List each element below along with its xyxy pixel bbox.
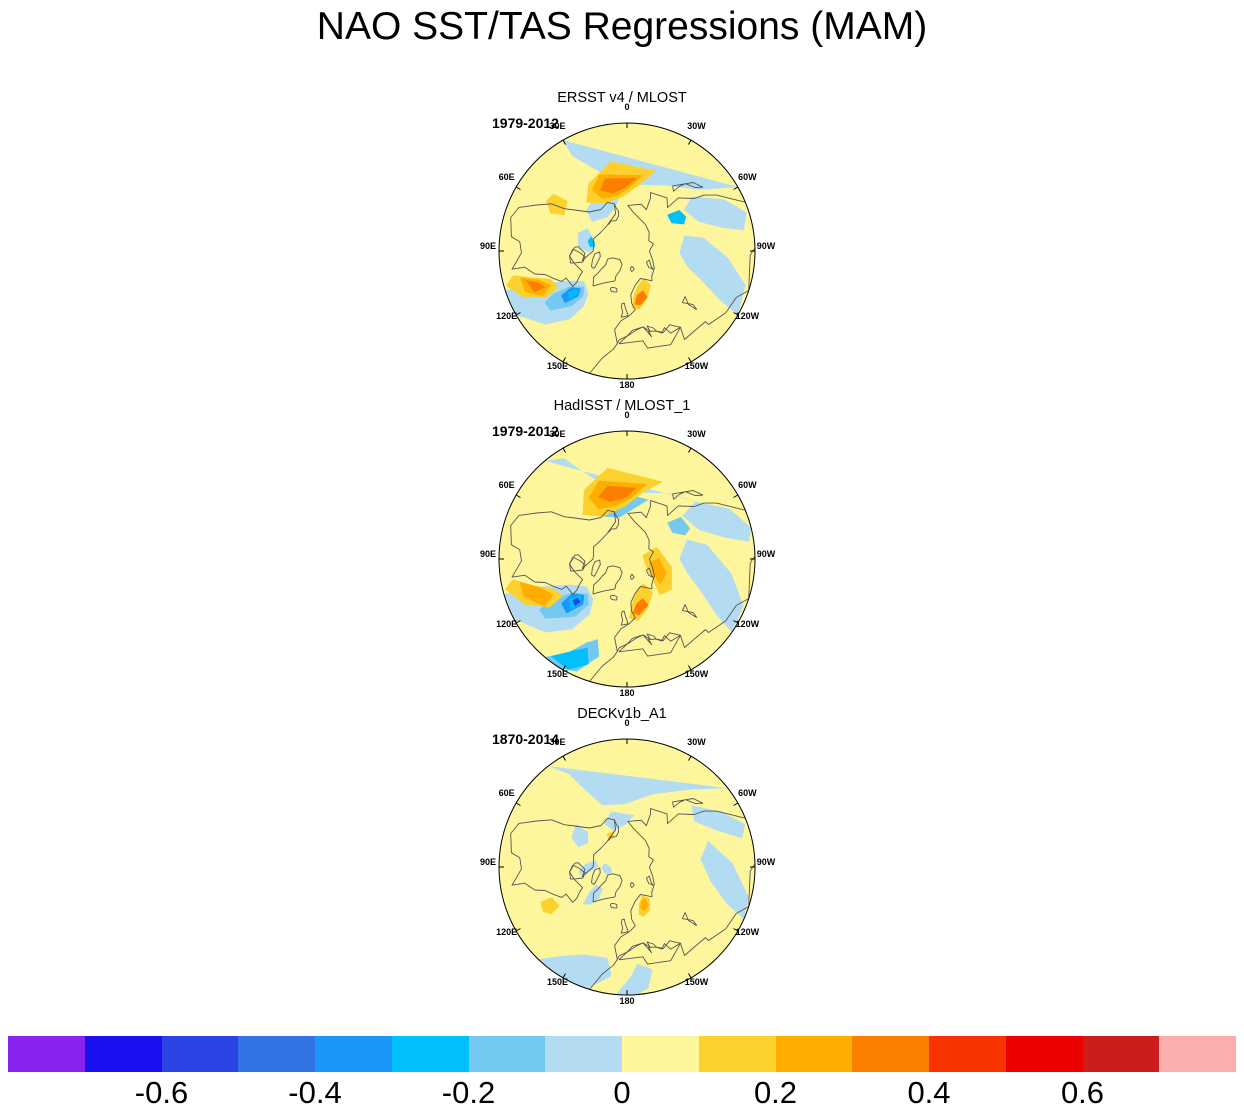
colorbar-segment-2 [162, 1036, 239, 1072]
lon-label-60W-panel-2: 60W [738, 788, 757, 798]
polar-map-1 [486, 418, 768, 700]
lon-label-150E-panel-0: 150E [547, 361, 568, 371]
lon-label-150W-panel-2: 150W [685, 977, 709, 987]
colorbar [8, 1036, 1236, 1072]
colorbar-segment-0 [8, 1036, 85, 1072]
figure-title: NAO SST/TAS Regressions (MAM) [0, 4, 1244, 50]
colorbar-tick-0.4: 0.4 [907, 1074, 950, 1112]
lon-label-60E-panel-2: 60E [499, 788, 515, 798]
lon-label-120W-panel-0: 120W [736, 311, 760, 321]
polar-map-0 [486, 110, 768, 392]
lon-label-90E-panel-2: 90E [480, 857, 496, 867]
lon-label-0-panel-2: 0 [624, 718, 629, 728]
lon-label-150W-panel-0: 150W [685, 361, 709, 371]
colorbar-segment-1 [85, 1036, 162, 1072]
lon-label-60E-panel-1: 60E [499, 480, 515, 490]
colorbar-segment-11 [852, 1036, 929, 1072]
lon-label-30W-panel-0: 30W [687, 121, 706, 131]
colorbar-segment-15 [1159, 1036, 1236, 1072]
lon-label-60W-panel-1: 60W [738, 480, 757, 490]
panel-title-2: DECKv1b_A1 [0, 706, 1244, 722]
lon-label-180-panel-1: 180 [619, 688, 634, 698]
colorbar-segment-7 [545, 1036, 622, 1072]
lon-label-30W-panel-2: 30W [687, 737, 706, 747]
colorbar-segment-14 [1083, 1036, 1160, 1072]
lon-label-90W-panel-1: 90W [757, 549, 776, 559]
colorbar-segment-3 [238, 1036, 315, 1072]
lon-label-120E-panel-2: 120E [496, 927, 517, 937]
colorbar-segment-5 [392, 1036, 469, 1072]
lon-label-0-panel-1: 0 [624, 410, 629, 420]
lon-label-90W-panel-2: 90W [757, 857, 776, 867]
lon-label-120W-panel-2: 120W [736, 927, 760, 937]
lon-label-150W-panel-1: 150W [685, 669, 709, 679]
lon-label-120E-panel-0: 120E [496, 311, 517, 321]
colorbar-segment-10 [776, 1036, 853, 1072]
colorbar-segment-6 [469, 1036, 546, 1072]
panel-title-1: HadISST / MLOST_1 [0, 398, 1244, 414]
colorbar-tick--0.2: -0.2 [442, 1074, 495, 1112]
lon-label-90W-panel-0: 90W [757, 241, 776, 251]
lon-label-150E-panel-2: 150E [547, 977, 568, 987]
lon-label-60W-panel-0: 60W [738, 172, 757, 182]
colorbar-segment-12 [929, 1036, 1006, 1072]
colorbar-tick--0.6: -0.6 [135, 1074, 188, 1112]
colorbar-segment-8 [622, 1036, 699, 1072]
lon-label-180-panel-2: 180 [619, 996, 634, 1006]
lon-label-0-panel-0: 0 [624, 102, 629, 112]
colorbar-tick-0.6: 0.6 [1061, 1074, 1104, 1112]
colorbar-tick-labels: -0.6-0.4-0.200.20.40.6 [8, 1074, 1236, 1114]
polar-map-2 [486, 726, 768, 1008]
lon-label-60E-panel-0: 60E [499, 172, 515, 182]
colorbar-segment-4 [315, 1036, 392, 1072]
lon-label-120W-panel-1: 120W [736, 619, 760, 629]
lon-label-30E-panel-2: 30E [549, 737, 565, 747]
lon-label-90E-panel-0: 90E [480, 241, 496, 251]
lon-label-150E-panel-1: 150E [547, 669, 568, 679]
colorbar-tick--0.4: -0.4 [288, 1074, 341, 1112]
lon-label-30E-panel-0: 30E [549, 121, 565, 131]
lon-label-30E-panel-1: 30E [549, 429, 565, 439]
panel-title-0: ERSST v4 / MLOST [0, 90, 1244, 106]
lon-label-120E-panel-1: 120E [496, 619, 517, 629]
lon-label-30W-panel-1: 30W [687, 429, 706, 439]
lon-label-180-panel-0: 180 [619, 380, 634, 390]
colorbar-segment-9 [699, 1036, 776, 1072]
colorbar-segment-13 [1006, 1036, 1083, 1072]
lon-label-90E-panel-1: 90E [480, 549, 496, 559]
colorbar-tick-0.2: 0.2 [754, 1074, 797, 1112]
colorbar-tick-0: 0 [613, 1074, 630, 1112]
